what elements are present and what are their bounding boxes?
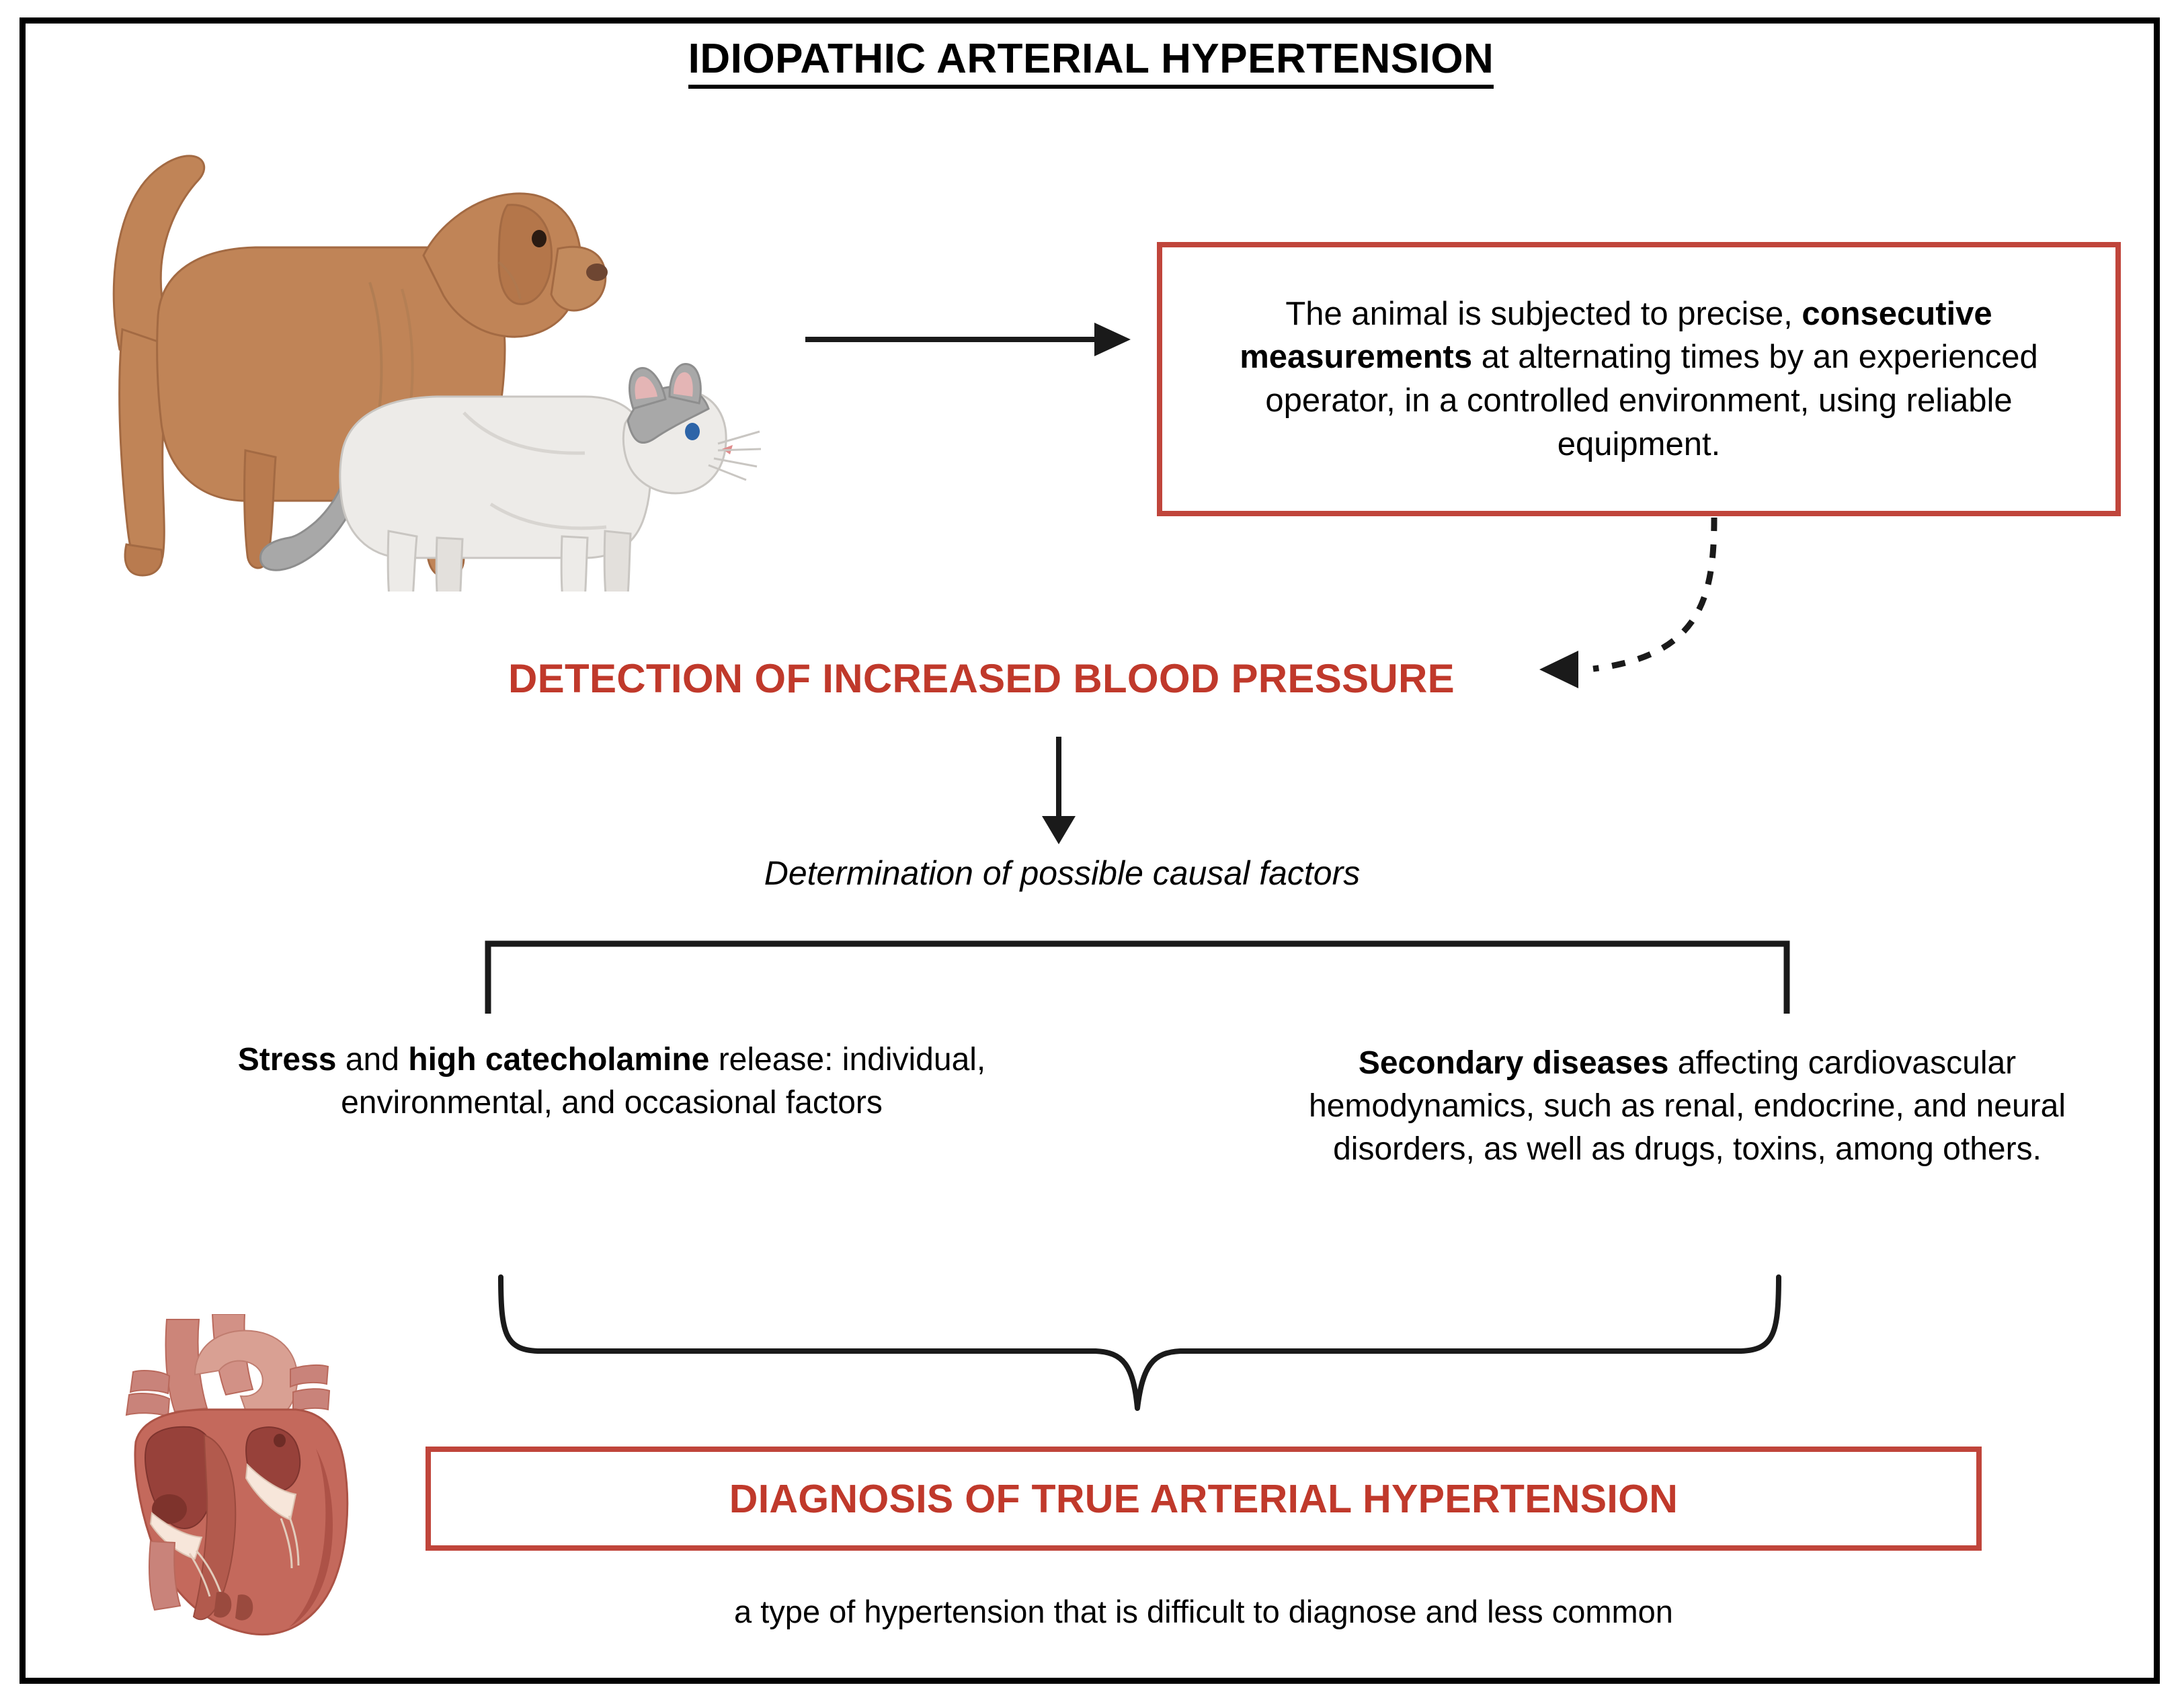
branch-left-bold1: Stress: [238, 1042, 337, 1077]
dog-and-cat-illustration: [87, 128, 800, 592]
branch-left-bold2: high catecholamine: [408, 1042, 709, 1077]
dashed-curved-arrow-to-detection: [1506, 511, 1788, 706]
determination-text: Determination of possible causal factors: [403, 854, 1721, 893]
diagnosis-headline: DIAGNOSIS OF TRUE ARTERIAL HYPERTENSION: [729, 1476, 1678, 1522]
measurement-box-text: The animal is subjected to precise, cons…: [1162, 292, 2115, 466]
arrow-down-to-determination: [1022, 733, 1102, 847]
detection-heading: DETECTION OF INCREASED BLOOD PRESSURE: [437, 655, 1526, 702]
bottom-merge-brace: [464, 1270, 1815, 1425]
measurement-text-part1: The animal is subjected to precise,: [1285, 296, 1802, 332]
diagnosis-box: DIAGNOSIS OF TRUE ARTERIAL HYPERTENSION: [426, 1447, 1982, 1551]
page-title-text: IDIOPATHIC ARTERIAL HYPERTENSION: [688, 36, 1494, 89]
anatomical-heart-illustration: [94, 1314, 410, 1657]
measurement-box: The animal is subjected to precise, cons…: [1157, 242, 2121, 516]
diagnosis-caption: a type of hypertension that is difficult…: [426, 1593, 1982, 1630]
arrow-animals-to-measurement-box: [800, 296, 1136, 383]
page-title: IDIOPATHIC ARTERIAL HYPERTENSION: [0, 35, 2182, 83]
branch-left-text: Stress and high catecholamine release: i…: [148, 1039, 1076, 1125]
branch-right-text: Secondary diseases affecting cardiovascu…: [1250, 1042, 2124, 1170]
diagram-canvas: IDIOPATHIC ARTERIAL HYPERTENSION: [0, 0, 2182, 1708]
top-split-bracket: [471, 934, 1802, 1022]
branch-left-mid: and: [336, 1042, 408, 1077]
branch-right-bold1: Secondary diseases: [1359, 1045, 1669, 1081]
